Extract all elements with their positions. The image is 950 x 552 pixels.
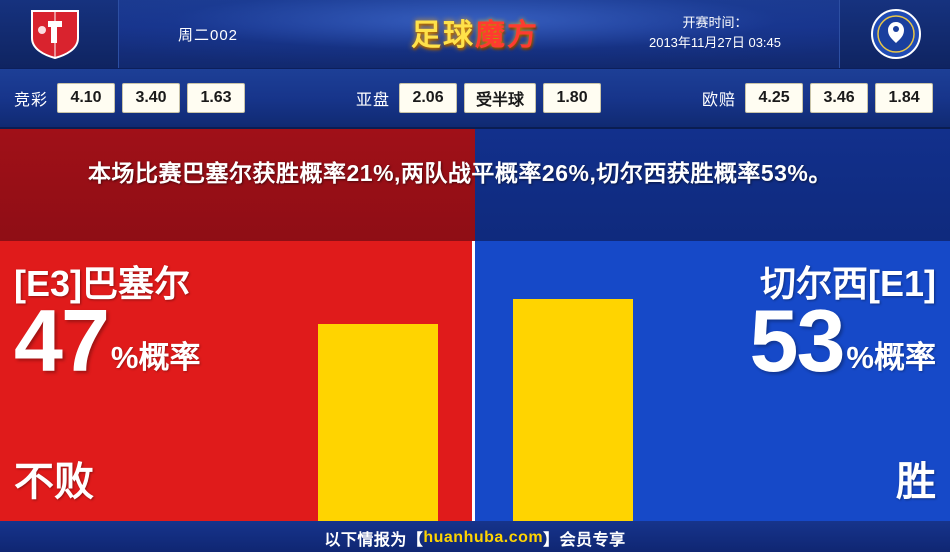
site-title-main: 足球 — [411, 19, 475, 52]
odds-value[interactable]: 1.84 — [875, 83, 933, 113]
footer-bar: 以下情报为【huanhuba.com】会员专享 — [0, 521, 950, 552]
odds-group-label: 欧赔 — [702, 86, 736, 110]
away-panel: 切尔西[E1] 53 %概率 胜 — [475, 241, 950, 521]
home-verdict: 不败 — [14, 449, 94, 507]
odds-group-yapan: 亚盘 2.06 受半球 1.80 — [356, 83, 608, 113]
away-probability-value: 53 — [750, 297, 844, 385]
away-probability: 53 %概率 — [750, 297, 936, 385]
away-probability-unit: %概率 — [843, 337, 936, 385]
probability-chart: [E3]巴塞尔 47 %概率 不败 切尔西[E1] 53 %概率 胜 — [0, 241, 950, 521]
odds-group-label: 竞彩 — [14, 86, 48, 110]
home-bar — [318, 324, 438, 521]
kickoff-label: 开赛时间： — [600, 13, 830, 33]
header-bar: 周二002 足球魔方 开赛时间： 2013年11月27日 03:45 — [0, 0, 950, 69]
kickoff-value: 2013年11月27日 03:45 — [600, 33, 830, 53]
home-probability-value: 47 — [14, 297, 108, 385]
away-logo-panel — [839, 0, 950, 68]
home-panel: [E3]巴塞尔 47 %概率 不败 — [0, 241, 475, 521]
infographic-page: 周二002 足球魔方 开赛时间： 2013年11月27日 03:45 竞彩 4.… — [0, 0, 950, 552]
away-bar — [513, 299, 633, 521]
odds-group-oupei: 欧赔 4.25 3.46 1.84 — [702, 83, 940, 113]
home-probability-unit: %概率 — [108, 337, 201, 385]
summary-band: 本场比赛巴塞尔获胜概率21%,两队战平概率26%,切尔西获胜概率53%。 — [0, 129, 950, 241]
odds-value[interactable]: 1.80 — [543, 83, 601, 113]
odds-value[interactable]: 4.25 — [745, 83, 803, 113]
summary-text: 本场比赛巴塞尔获胜概率21%,两队战平概率26%,切尔西获胜概率53%。 — [88, 155, 910, 191]
odds-value[interactable]: 1.63 — [187, 83, 245, 113]
odds-value[interactable]: 2.06 — [399, 83, 457, 113]
odds-value[interactable]: 3.46 — [810, 83, 868, 113]
footer-link[interactable]: huanhuba.com — [423, 529, 543, 547]
handicap-value[interactable]: 受半球 — [464, 83, 536, 113]
chelsea-crest-icon — [870, 8, 922, 60]
site-title-accent: 魔方 — [475, 19, 539, 52]
odds-group-jingcai: 竞彩 4.10 3.40 1.63 — [14, 83, 252, 113]
away-verdict: 胜 — [896, 449, 936, 507]
footer-prefix: 以下情报为【 — [324, 526, 423, 550]
odds-group-label: 亚盘 — [356, 86, 390, 110]
home-probability: 47 %概率 — [14, 297, 200, 385]
odds-bar: 竞彩 4.10 3.40 1.63 亚盘 2.06 受半球 1.80 欧赔 4.… — [0, 69, 950, 129]
footer-suffix: 】会员专享 — [543, 526, 626, 550]
odds-value[interactable]: 3.40 — [122, 83, 180, 113]
kickoff-info: 开赛时间： 2013年11月27日 03:45 — [600, 13, 830, 53]
odds-value[interactable]: 4.10 — [57, 83, 115, 113]
